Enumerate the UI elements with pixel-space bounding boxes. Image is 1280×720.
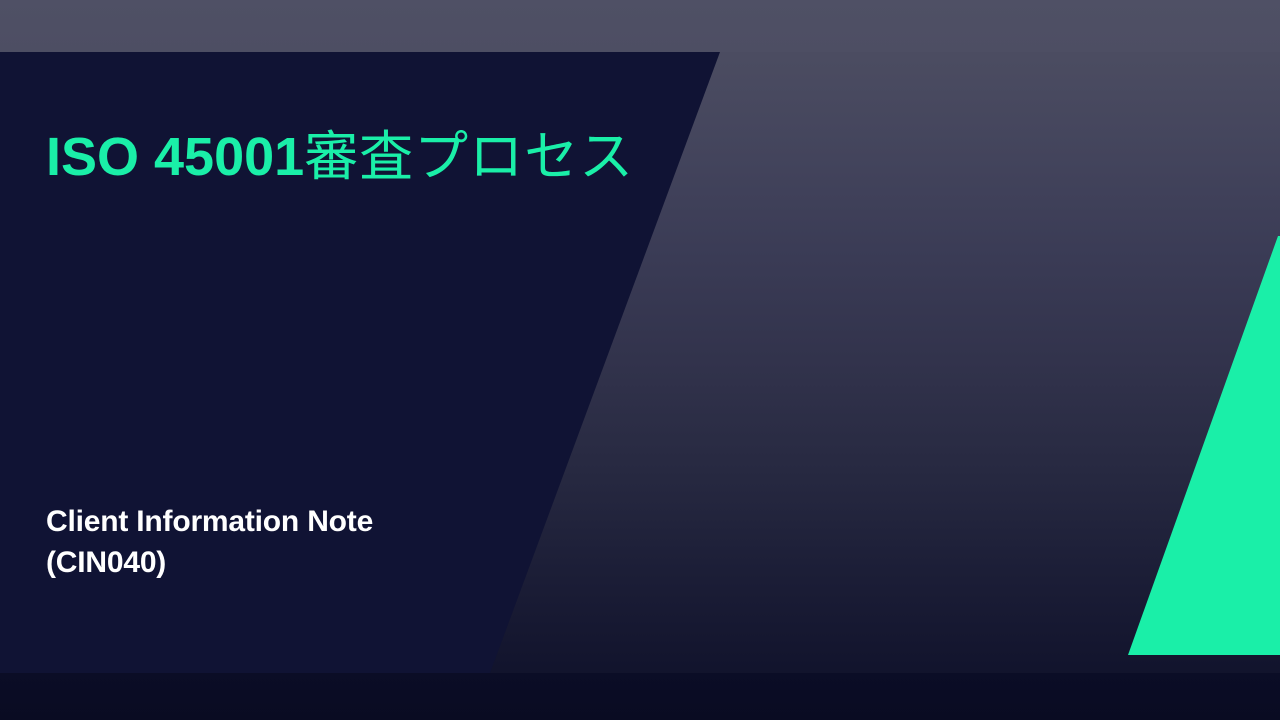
bottom-strip [0, 673, 1280, 720]
slide-title-latin: ISO 45001 [46, 127, 304, 187]
slide-title-japanese: 審査プロセス [304, 125, 634, 188]
title-slide: ISO 45001審査プロセス Client Information Note(… [0, 0, 1280, 720]
top-band [0, 0, 1280, 52]
slide-subtitle-line1: Client Information Note [46, 505, 373, 538]
slide-title: ISO 45001審査プロセス [46, 126, 746, 188]
slide-subtitle-line2: (CIN040) [46, 546, 166, 579]
accent-wedge-shape [1120, 236, 1280, 656]
slide-subtitle: Client Information Note(CIN040) [46, 502, 466, 584]
